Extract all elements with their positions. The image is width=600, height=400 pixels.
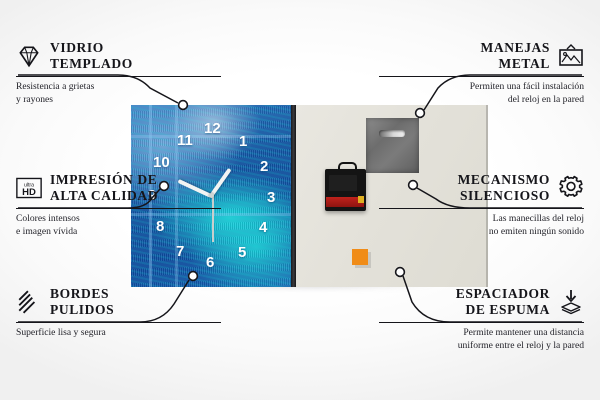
- clock-numeral-2: 2: [260, 159, 268, 174]
- callout-title-line1: VIDRIO: [50, 40, 133, 56]
- callout-vidrio-templado[interactable]: VIDRIO TEMPLADO Resistencia a grietas y …: [16, 40, 221, 107]
- callout-description: Las manecillas del reloj no emiten ningú…: [379, 213, 584, 239]
- callout-description: Colores intensos e imagen vívida: [16, 213, 221, 239]
- clock-numeral-10: 10: [153, 155, 170, 170]
- callout-title: MECANISMO SILENCIOSO: [458, 172, 550, 204]
- callout-title-line2: ALTA CALIDAD: [50, 188, 158, 204]
- callout-desc-line1: Colores intensos: [16, 213, 221, 226]
- callout-header: VIDRIO TEMPLADO: [16, 40, 221, 72]
- clock-numeral-5: 5: [238, 245, 246, 260]
- callout-header: ultra HD IMPRESIÓN DE ALTA CALIDAD: [16, 172, 221, 204]
- wall-frame-hanger-icon: [558, 43, 584, 69]
- callout-title-line1: BORDES: [50, 286, 114, 302]
- callout-title-line2: PULIDOS: [50, 302, 114, 318]
- callout-title-line1: ESPACIADOR: [456, 286, 550, 302]
- callout-espaciador-espuma[interactable]: ESPACIADOR DE ESPUMA Permite mantener un…: [379, 286, 584, 353]
- callout-description: Permiten una fácil instalación del reloj…: [379, 81, 584, 107]
- callout-desc-line1: Permite mantener una distancia: [379, 327, 584, 340]
- callout-header: BORDES PULIDOS: [16, 286, 221, 318]
- callout-title: MANEJAS METAL: [481, 40, 550, 72]
- clock-numeral-6: 6: [206, 255, 214, 270]
- callout-divider: [379, 208, 584, 209]
- hanger-slot: [379, 130, 405, 137]
- callout-desc-line1: Las manecillas del reloj: [379, 213, 584, 226]
- callout-desc-line1: Permiten una fácil instalación: [379, 81, 584, 94]
- callout-divider: [16, 208, 221, 209]
- callout-mecanismo-silencioso[interactable]: MECANISMO SILENCIOSO Las manecillas del …: [379, 172, 584, 239]
- callout-header: MECANISMO SILENCIOSO: [379, 172, 584, 204]
- callout-header: ESPACIADOR DE ESPUMA: [379, 286, 584, 318]
- callout-title-line1: IMPRESIÓN DE: [50, 172, 158, 188]
- clock-numeral-11: 11: [177, 133, 193, 148]
- clock-numeral-4: 4: [259, 220, 267, 235]
- callout-manejas-metal[interactable]: MANEJAS METAL Permiten una fácil instala…: [379, 40, 584, 107]
- callout-desc-line1: Superficie lisa y segura: [16, 327, 221, 340]
- callout-description: Superficie lisa y segura: [16, 327, 221, 340]
- callout-title-line2: TEMPLADO: [50, 56, 133, 72]
- callout-divider: [16, 322, 221, 323]
- callout-impresion-alta-calidad[interactable]: ultra HD IMPRESIÓN DE ALTA CALIDAD Color…: [16, 172, 221, 239]
- clock-numeral-3: 3: [267, 190, 275, 205]
- callout-desc-line2: uniforme entre el reloj y la pared: [379, 340, 584, 353]
- foam-spacer-arrow-icon: [558, 289, 584, 315]
- ultra-hd-icon: ultra HD: [16, 175, 42, 201]
- callout-title-line2: SILENCIOSO: [458, 188, 550, 204]
- battery-terminal: [358, 196, 364, 203]
- callout-title-line2: METAL: [481, 56, 550, 72]
- clock-numeral-12: 12: [204, 121, 221, 136]
- orange-foam-spacer: [352, 249, 368, 265]
- polished-edges-icon: [16, 289, 42, 315]
- callout-description: Permite mantener una distancia uniforme …: [379, 327, 584, 353]
- metal-hanger-plate: [366, 118, 419, 173]
- ultra-hd-icon-big-text: HD: [22, 187, 36, 198]
- callout-bordes-pulidos[interactable]: BORDES PULIDOS Superficie lisa y segura: [16, 286, 221, 340]
- callout-title-line1: MANEJAS: [481, 40, 550, 56]
- callout-title: IMPRESIÓN DE ALTA CALIDAD: [50, 172, 158, 204]
- callout-title: ESPACIADOR DE ESPUMA: [456, 286, 550, 318]
- callout-desc-line1: Resistencia a grietas: [16, 81, 221, 94]
- callout-title-line2: DE ESPUMA: [456, 302, 550, 318]
- callout-divider: [379, 76, 584, 77]
- diamond-icon: [16, 43, 42, 69]
- callout-desc-line2: no emiten ningún sonido: [379, 226, 584, 239]
- callout-desc-line2: y rayones: [16, 94, 221, 107]
- callout-header: MANEJAS METAL: [379, 40, 584, 72]
- callout-divider: [16, 76, 221, 77]
- callout-desc-line2: del reloj en la pared: [379, 94, 584, 107]
- callout-description: Resistencia a grietas y rayones: [16, 81, 221, 107]
- gear-icon: [558, 175, 584, 201]
- mechanism-detail: [329, 175, 357, 191]
- callout-divider: [379, 322, 584, 323]
- callout-title: BORDES PULIDOS: [50, 286, 114, 318]
- callout-desc-line2: e imagen vívida: [16, 226, 221, 239]
- clock-numeral-7: 7: [176, 244, 184, 259]
- callout-title-line1: MECANISMO: [458, 172, 550, 188]
- callout-title: VIDRIO TEMPLADO: [50, 40, 133, 72]
- infographic-canvas: 12 1 2 3 4 5 6 7 8 9 10 11: [0, 0, 600, 400]
- clock-numeral-1: 1: [239, 134, 247, 149]
